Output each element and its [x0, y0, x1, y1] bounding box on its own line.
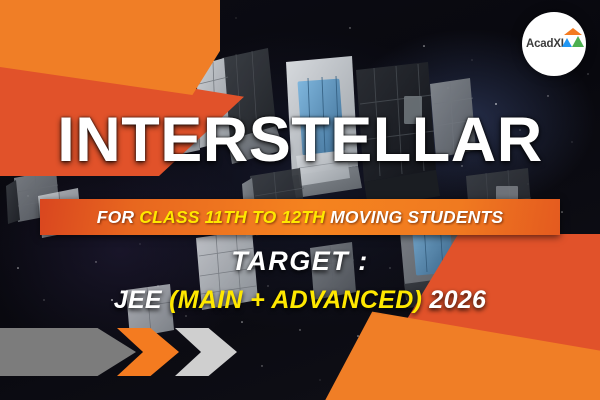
ribbon-suffix: MOVING STUDENTS — [325, 207, 503, 227]
orange-triangle-icon — [564, 28, 582, 35]
blue-triangle-icon — [562, 38, 572, 47]
target-exam-name: JEE — [114, 286, 169, 314]
ribbon-prefix: FOR — [97, 207, 140, 227]
target-exam-papers: (MAIN + ADVANCED) — [169, 286, 422, 314]
green-triangle-icon — [572, 36, 584, 47]
target-value: JEE (MAIN + ADVANCED) 2026 — [0, 286, 600, 315]
page-title: INTERSTELLAR — [0, 109, 600, 172]
logo-inner: AcadXI — [525, 27, 583, 61]
logo-wordmark: AcadXI — [526, 38, 564, 50]
promotional-poster: AcadXI INTERSTELLAR FOR CLASS 11TH TO 12… — [0, 0, 600, 400]
target-label: TARGET : — [0, 246, 600, 277]
ribbon-highlight: CLASS 11TH TO 12TH — [139, 207, 325, 227]
audience-ribbon-text: FOR CLASS 11TH TO 12TH MOVING STUDENTS — [97, 207, 504, 228]
target-exam-year: 2026 — [422, 286, 486, 314]
logo-triangles-icon — [562, 27, 584, 51]
audience-ribbon: FOR CLASS 11TH TO 12TH MOVING STUDENTS — [40, 199, 560, 235]
brand-logo-badge[interactable]: AcadXI — [522, 12, 586, 76]
